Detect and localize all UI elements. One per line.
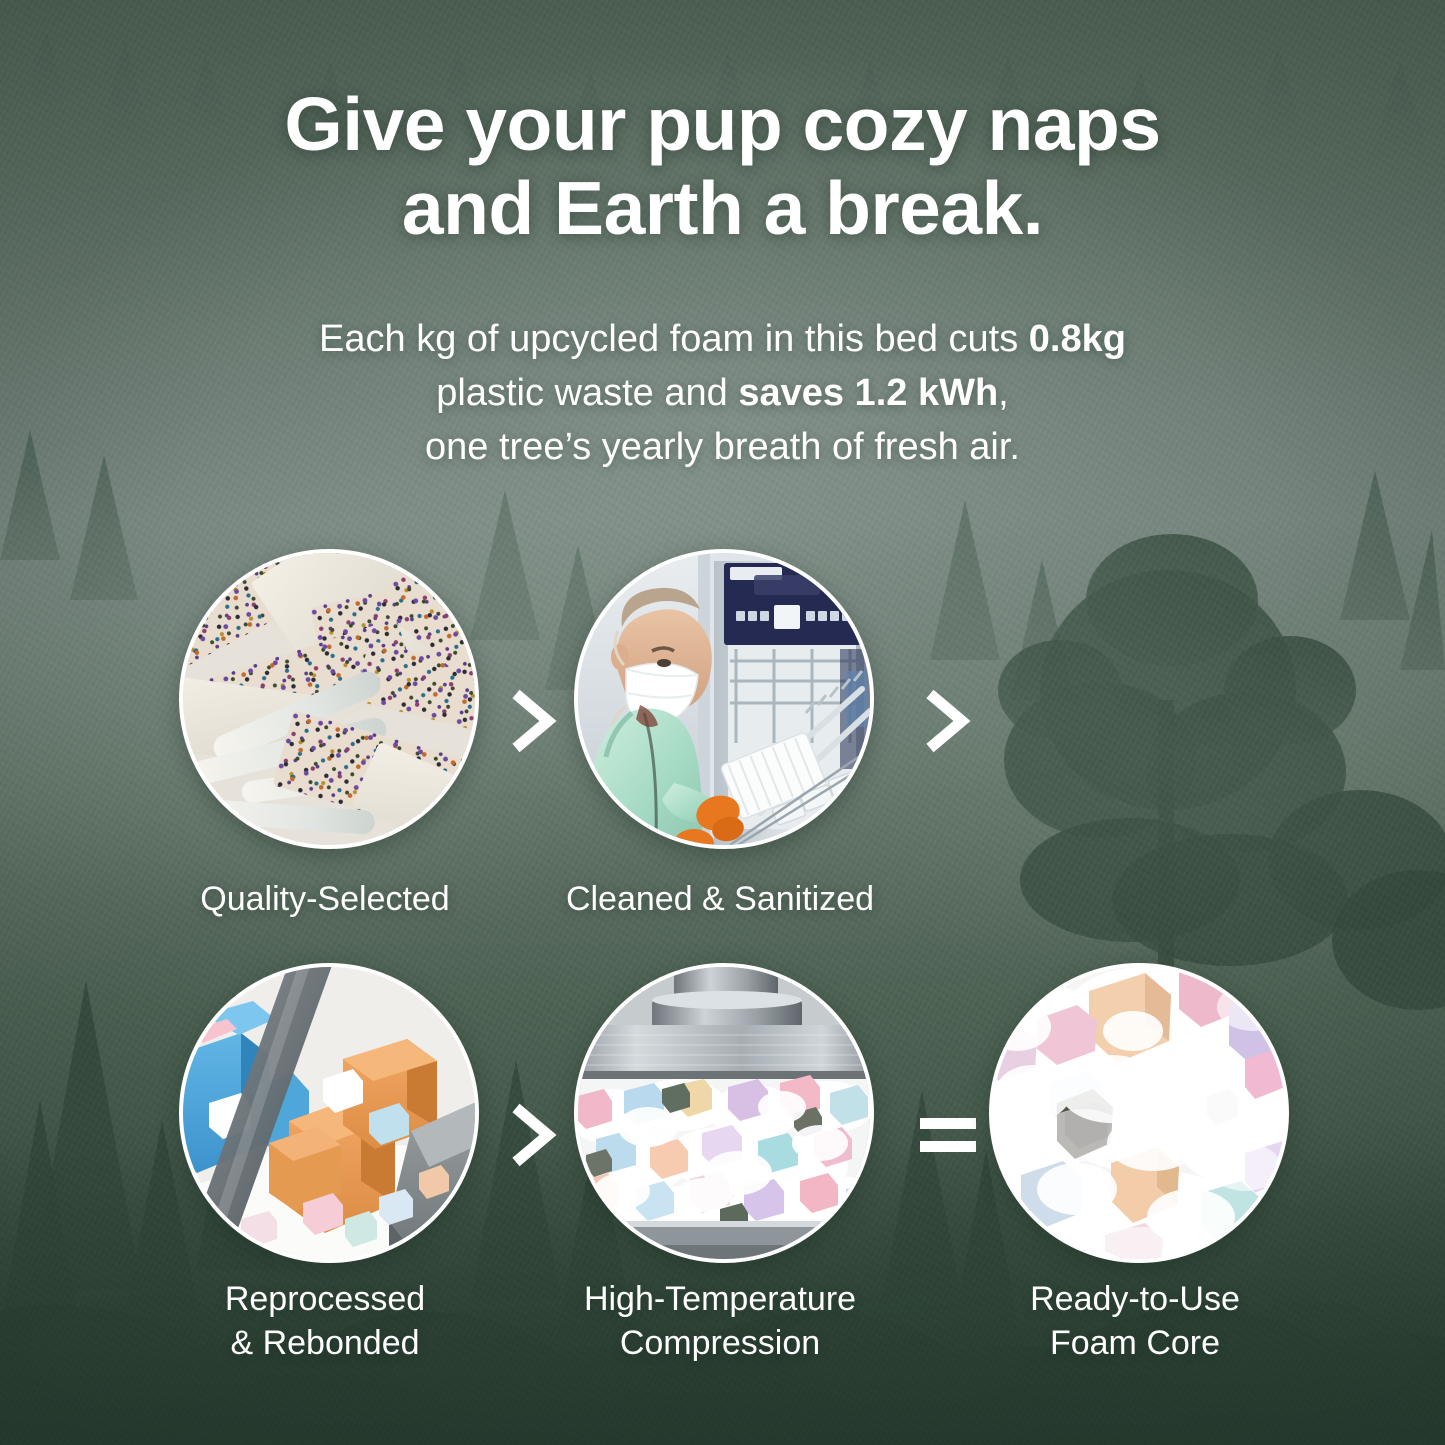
caption-line-2: & Rebonded xyxy=(125,1322,525,1366)
step-image-high-temp-compression xyxy=(574,963,874,1263)
caption-line-1: Quality-Selected xyxy=(125,878,525,922)
connector-equals xyxy=(916,1112,980,1158)
caption-line-2: Foam Core xyxy=(935,1322,1335,1366)
process-diagram: Quality-Selected xyxy=(0,0,1445,1445)
caption-line-1: Cleaned & Sanitized xyxy=(520,878,920,922)
step-caption-quality-selected: Quality-Selected xyxy=(125,878,525,922)
connector-chevron-2 xyxy=(920,688,976,754)
photo-foam-scraps xyxy=(183,553,475,845)
caption-line-1: High-Temperature xyxy=(520,1278,920,1322)
step-caption-cleaned-sanitized: Cleaned & Sanitized xyxy=(520,878,920,922)
step-caption-ready-foam-core: Ready-to-Use Foam Core xyxy=(935,1278,1335,1365)
step-image-quality-selected xyxy=(179,549,479,849)
photo-press-compression xyxy=(578,967,870,1259)
photo-worker-sanitizing xyxy=(578,553,870,845)
step-image-cleaned-sanitized xyxy=(574,549,874,849)
connector-chevron-3 xyxy=(506,1102,562,1168)
step-image-ready-foam-core xyxy=(989,963,1289,1263)
photo-foam-cubes-blade xyxy=(183,967,475,1259)
step-image-reprocessed xyxy=(179,963,479,1263)
step-caption-high-temp-compression: High-Temperature Compression xyxy=(520,1278,920,1365)
photo-ready-foam-core xyxy=(993,967,1285,1259)
step-caption-reprocessed: Reprocessed & Rebonded xyxy=(125,1278,525,1365)
caption-line-1: Reprocessed xyxy=(125,1278,525,1322)
infographic-canvas: Give your pup cozy naps and Earth a brea… xyxy=(0,0,1445,1445)
caption-line-1: Ready-to-Use xyxy=(935,1278,1335,1322)
connector-chevron-1 xyxy=(506,688,562,754)
caption-line-2: Compression xyxy=(520,1322,920,1366)
